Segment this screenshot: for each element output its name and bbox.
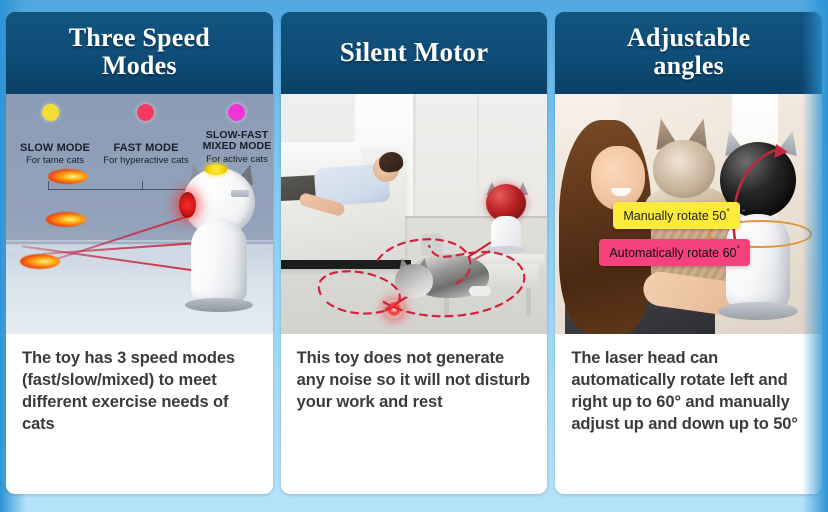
mode-dots — [6, 102, 273, 128]
device3-base — [718, 302, 798, 320]
woman-face — [591, 146, 645, 210]
panel-title-line1: Three Speed — [69, 23, 210, 52]
mode-name-fast: FAST MODE — [94, 142, 198, 154]
device-base — [185, 298, 253, 312]
callout-manual-unit: ° — [726, 207, 730, 217]
mode-name-mixed-line2: MIXED MODE — [203, 140, 272, 152]
cat-head — [395, 264, 433, 298]
panel-silent-motor: Silent Motor — [281, 12, 548, 494]
panel-caption-adjustable-angles: The laser head can automatically rotate … — [555, 334, 822, 494]
mode-name-mixed-line1: SLOW-FAST — [206, 129, 269, 141]
device-laser-emitter-icon — [179, 192, 196, 218]
laser-spot-2 — [46, 212, 86, 227]
rotation-callouts: Manually rotate 50° Automatically rotate… — [599, 202, 779, 266]
callout-auto-rotate: Automatically rotate 60° — [599, 239, 750, 266]
panel-title-three-speed-modes: Three Speed Modes — [6, 12, 273, 94]
callout-manual-label: Manually rotate 50 — [623, 209, 726, 223]
panel-art-three-speed-modes: SLOW MODE For tame cats FAST MODE For hy… — [6, 94, 273, 334]
device-port-icon — [231, 190, 249, 197]
device-top-light-icon — [205, 164, 227, 175]
laser-toy-device-white — [177, 162, 261, 312]
panel3-title-line1: Adjustable — [627, 23, 750, 52]
mode-dot-mixed-icon — [228, 104, 245, 121]
mode-name-slow: SLOW MODE — [8, 142, 102, 154]
panel-caption-silent-motor: This toy does not generate any noise so … — [281, 334, 548, 494]
infographic-board: Three Speed Modes SLOW MODE For tame cat… — [0, 0, 828, 512]
laser-spot-1 — [48, 169, 88, 184]
mode-sub-slow: For tame cats — [8, 155, 102, 166]
mode-label-slow: SLOW MODE For tame cats — [8, 142, 102, 166]
panel-caption-three-speed-modes: The toy has 3 speed modes (fast/slow/mix… — [6, 334, 273, 494]
laser-dot-on-floor — [385, 300, 403, 318]
panel-title-silent-motor: Silent Motor — [281, 12, 548, 94]
panel-art-silent-motor — [281, 94, 548, 334]
callout-manual-rotate: Manually rotate 50° — [613, 202, 739, 229]
sofa-shadow — [281, 260, 411, 269]
panel-title-line2: Modes — [102, 51, 177, 80]
cat-chasing-laser — [393, 244, 489, 300]
side-table-leg-right — [526, 288, 531, 316]
connector-tick-1 — [48, 181, 49, 190]
device2-body — [491, 216, 521, 250]
cat3-head — [653, 140, 715, 198]
panel-adjustable-angles: Adjustable angles — [555, 12, 822, 494]
mode-dot-slow-icon — [42, 104, 59, 121]
device2-base — [486, 246, 526, 254]
panel-title-adjustable-angles: Adjustable angles — [555, 12, 822, 94]
device-body — [191, 220, 247, 304]
connector-tick-2 — [142, 181, 143, 190]
mode-name-mixed: SLOW-FAST MIXED MODE — [190, 130, 273, 153]
mode-dot-fast-icon — [137, 104, 154, 121]
mode-label-mixed: SLOW-FAST MIXED MODE For active cats — [190, 130, 273, 165]
callout-auto-label: Automatically rotate 60 — [609, 246, 736, 260]
laser-spot-3 — [20, 254, 60, 269]
panel3-title-line2: angles — [653, 51, 724, 80]
cat-tail — [469, 286, 491, 296]
panel-art-adjustable-angles: Manually rotate 50° Automatically rotate… — [555, 94, 822, 334]
callout-auto-unit: ° — [737, 244, 741, 254]
panel-three-speed-modes: Three Speed Modes SLOW MODE For tame cat… — [6, 12, 273, 494]
